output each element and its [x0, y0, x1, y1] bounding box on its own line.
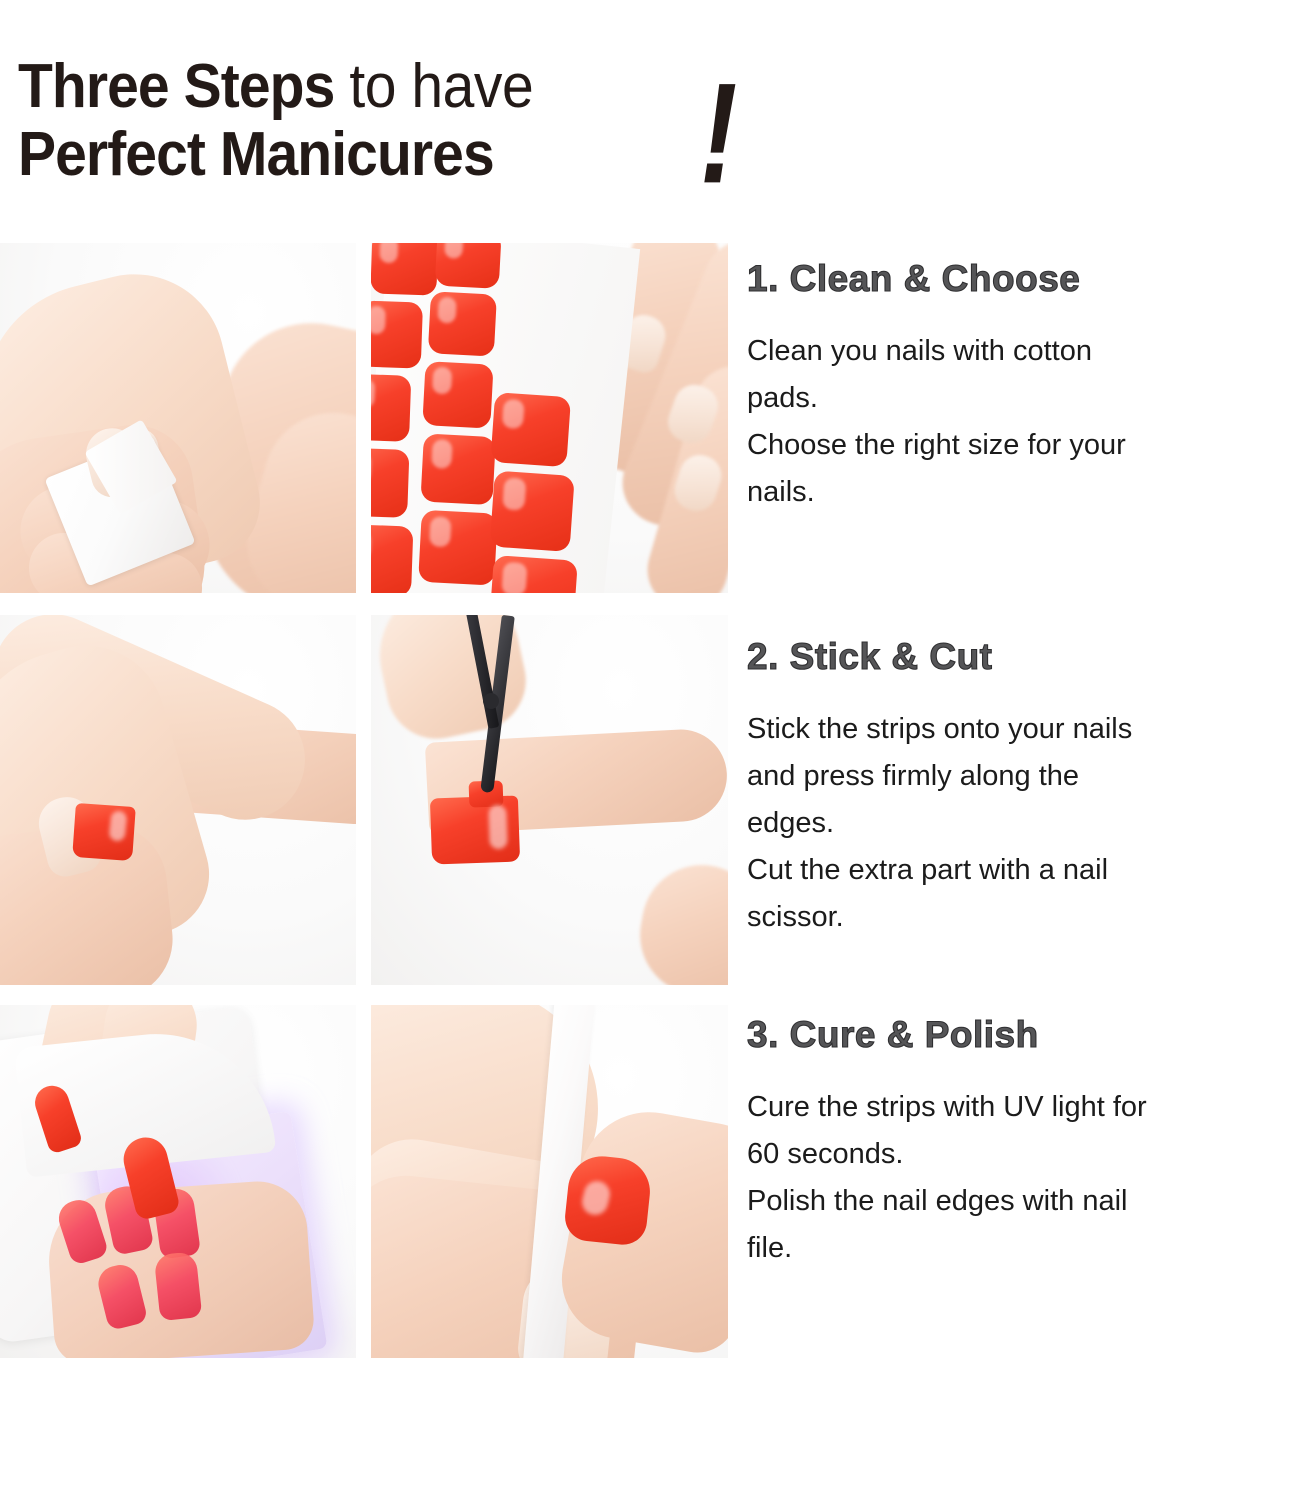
photo-cut-extra-with-scissor: [371, 615, 728, 985]
headline-strong-2: Perfect Manicures: [18, 120, 494, 189]
nail-highlight: [488, 805, 508, 850]
exclamation-mark-icon: !: [700, 62, 737, 205]
strip-sheet-shape: [371, 243, 640, 593]
step-2-body: Stick the strips onto your nails and pre…: [747, 706, 1292, 941]
nail-strip: [428, 291, 497, 356]
photo-choose-strip-size: [371, 243, 728, 593]
headline-line-2: Perfect Manicures: [18, 124, 494, 186]
step-1-heading: 1. Clean & Choose: [747, 258, 1292, 300]
nail-strip: [418, 510, 498, 586]
red-nail: [95, 1261, 149, 1331]
step-1-line-1: Clean you nails with cotton: [747, 328, 1292, 375]
step-1-line-4: nails.: [747, 469, 1292, 516]
step-3-line-2: 60 seconds.: [747, 1131, 1292, 1178]
red-nail: [154, 1251, 203, 1321]
step-2-line-5: scissor.: [747, 894, 1292, 941]
nail-strip: [490, 392, 571, 467]
applied-red-strip: [72, 803, 136, 861]
scissor-pivot-icon: [483, 693, 499, 709]
nail-strip: [435, 243, 502, 289]
nail-strip: [422, 361, 493, 428]
step-2-line-1: Stick the strips onto your nails: [747, 706, 1292, 753]
nail-strip: [489, 555, 578, 593]
red-nail: [54, 1195, 109, 1266]
step-2-heading: 2. Stick & Cut: [747, 636, 1292, 678]
step-1-line-3: Choose the right size for your: [747, 422, 1292, 469]
photo-cure-under-uv-lamp: BUILDING: [0, 1005, 356, 1358]
headline-light-1: to have: [349, 52, 533, 121]
step-1-line-2: pads.: [747, 375, 1292, 422]
photo-stick-strip-on-nail: [0, 615, 356, 985]
step-1: 1. Clean & Choose Clean you nails with c…: [747, 258, 1292, 516]
step-2-line-2: and press firmly along the: [747, 753, 1292, 800]
step-3: 3. Cure & Polish Cure the strips with UV…: [747, 1014, 1292, 1272]
nail-strip: [371, 374, 411, 442]
step-1-body: Clean you nails with cotton pads. Choose…: [747, 328, 1292, 516]
step-2-line-4: Cut the extra part with a nail: [747, 847, 1292, 894]
headline-strong-1: Three Steps: [18, 52, 334, 121]
nail-strip: [371, 243, 438, 296]
step-2: 2. Stick & Cut Stick the strips onto you…: [747, 636, 1292, 941]
photo-polish-edges-with-file: [371, 1005, 728, 1358]
photo-clean-nail-with-cotton-pad: [0, 243, 356, 593]
nail-strip: [420, 433, 495, 505]
curing-hand-shape: [44, 1178, 315, 1358]
nail-strip: [371, 524, 413, 593]
step-2-line-3: edges.: [747, 800, 1292, 847]
step-3-line-3: Polish the nail edges with nail: [747, 1178, 1292, 1225]
step-3-body: Cure the strips with UV light for 60 sec…: [747, 1084, 1292, 1272]
step-3-heading: 3. Cure & Polish: [747, 1014, 1292, 1056]
step-3-line-4: file.: [747, 1225, 1292, 1272]
nail-strip: [490, 471, 575, 552]
nail-strip: [371, 300, 423, 368]
step-3-line-1: Cure the strips with UV light for: [747, 1084, 1292, 1131]
headline-line-1: Three Steps to have: [18, 56, 533, 118]
nail-strip: [371, 448, 409, 518]
photo-grid: BUILDING: [0, 243, 728, 1358]
page-title: Three Steps to have Perfect Manicures: [18, 56, 798, 206]
